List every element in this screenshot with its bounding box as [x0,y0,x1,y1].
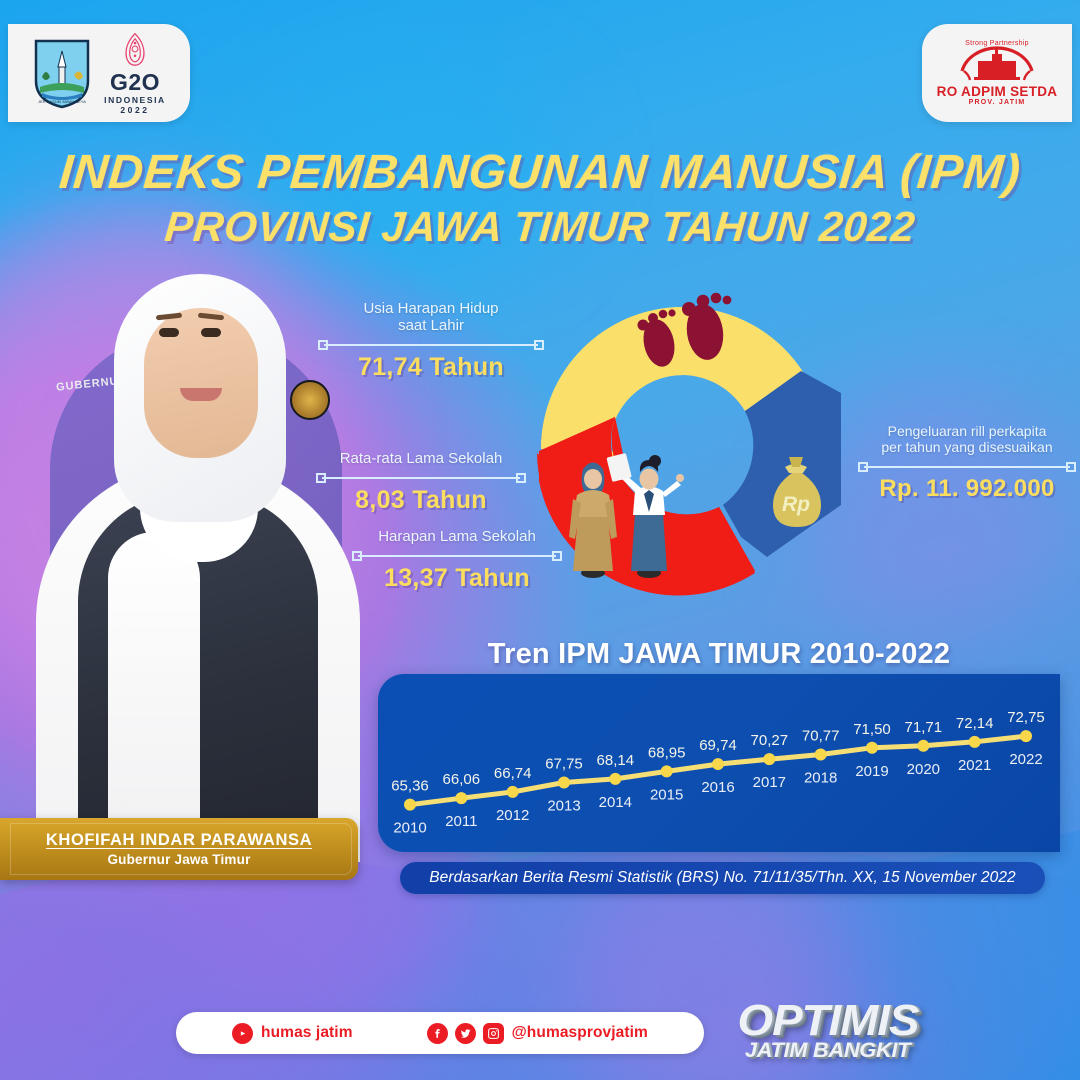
trend-data-point [712,758,724,770]
adpim-logo: Strong Partnership RO ADPIM SETDA PROV. … [937,40,1058,107]
trend-year-label: 2010 [393,820,426,837]
trend-data-point [763,753,775,765]
garuda-emblem-icon [290,380,330,420]
facebook-icon[interactable] [427,1023,448,1044]
trend-data-point [661,765,673,777]
title-line-1: INDEKS PEMBANGUNAN MANUSIA (IPM) [0,148,1080,199]
divider-cap-left [316,473,326,483]
trend-data-point [917,740,929,752]
optimis-main-text: OPTIMIS [738,1001,919,1041]
trend-value-label: 72,75 [1007,709,1045,726]
trend-year-label: 2011 [445,813,477,830]
trend-value-label: 71,71 [905,719,943,736]
batik-motif-icon [118,32,152,70]
trend-value-label: 70,27 [751,732,789,749]
footer-social-bar: humas jatim @humasprovjatim [176,1012,704,1054]
divider-cap-left [352,551,362,561]
trend-data-point [815,749,827,761]
optimis-campaign-logo: OPTIMIS JATIM BANGKIT [718,996,938,1068]
social-handle[interactable]: @humasprovjatim [512,1024,648,1042]
stat-value: Rp. 11. 992.000 [858,475,1076,503]
youtube-handle[interactable]: humas jatim [261,1024,353,1042]
trend-year-label: 2021 [958,757,991,774]
trend-data-point [609,773,621,785]
trend-value-label: 72,14 [956,715,994,732]
svg-text:JER BASUKI MAWA BEYA: JER BASUKI MAWA BEYA [38,99,86,104]
jatim-provincial-seal-icon: JER BASUKI MAWA BEYA [32,37,92,109]
trend-data-point [558,777,570,789]
social-icon-list [427,1023,504,1044]
trend-chart-panel: 65,36201066,06201166,74201267,75201368,1… [378,674,1060,852]
stat-divider [316,472,526,484]
money-symbol: Rp [782,493,810,516]
page-title: INDEKS PEMBANGUNAN MANUSIA (IPM) PROVINS… [0,148,1080,249]
trend-year-label: 2012 [496,807,529,824]
trend-year-label: 2019 [855,763,888,780]
trend-year-label: 2017 [753,774,786,791]
adpim-sub: PROV. JATIM [969,99,1026,106]
divider-line [864,466,1070,468]
trend-data-point [455,792,467,804]
government-building-icon [954,45,1040,83]
trend-year-label: 2018 [804,770,837,787]
stat-label-line1: Pengeluaran rill perkapita [858,424,1076,440]
trend-value-label: 69,74 [699,737,737,754]
trend-source-note: Berdasarkan Berita Resmi Statistik (BRS)… [400,862,1045,894]
governor-mouth [180,388,222,401]
trend-value-label: 66,06 [443,771,481,788]
stat-value: 8,03 Tahun [316,486,526,515]
trend-year-label: 2016 [701,779,734,796]
socials-group[interactable]: @humasprovjatim [427,1023,648,1044]
governor-name: KHOFIFAH INDAR PARAWANSA [46,831,312,850]
trend-data-point [404,799,416,811]
trend-value-label: 67,75 [545,756,583,773]
youtube-icon[interactable] [232,1023,253,1044]
title-line-2: PROVINSI JAWA TIMUR TAHUN 2022 [0,205,1080,250]
ipm-trend-line-chart: 65,36201066,06201166,74201267,75201368,1… [378,674,1060,852]
logo-ro-adpim-setda: Strong Partnership RO ADPIM SETDA PROV. … [922,24,1072,122]
instagram-icon[interactable] [483,1023,504,1044]
trend-value-label: 65,36 [391,778,429,795]
governor-eye [159,328,179,337]
trend-year-label: 2022 [1009,751,1042,768]
trend-data-point [866,742,878,754]
trend-value-label: 68,95 [648,744,686,761]
g20-logo: G2O INDONESIA 2022 [104,32,166,114]
trend-data-point [969,736,981,748]
youtube-group[interactable]: humas jatim [232,1023,353,1044]
adpim-name: RO ADPIM SETDA [937,85,1058,99]
ipm-components-donut-chart: Rp [505,275,865,630]
stat-pengeluaran-riil-perkapita: Pengeluaran rill perkapita per tahun yan… [858,424,1076,503]
trend-value-label: 71,50 [853,721,891,738]
trend-data-point [1020,730,1032,742]
twitter-icon[interactable] [455,1023,476,1044]
trend-year-label: 2013 [547,798,580,815]
trend-year-label: 2014 [599,794,632,811]
stat-label-line1: Rata-rata Lama Sekolah [316,450,526,467]
governor-vest-opening [108,532,200,862]
divider-cap-left [318,340,328,350]
g20-country: INDONESIA [104,96,166,105]
trend-value-label: 70,77 [802,728,840,745]
governor-eye [201,328,221,337]
divider-line [322,477,520,479]
trend-chart-title: Tren IPM JAWA TIMUR 2010-2022 [378,638,1060,671]
optimis-sub-text: JATIM BANGKIT [745,1039,910,1063]
trend-value-label: 68,14 [597,752,635,769]
trend-year-label: 2020 [907,761,940,778]
stat-divider [858,461,1076,473]
governor-role: Gubernur Jawa Timur [107,852,250,867]
divider-cap-right [1066,462,1076,472]
g20-title: G2O [110,71,160,94]
trend-data-point [507,786,519,798]
trend-year-label: 2015 [650,786,683,803]
stat-rata-rata-lama-sekolah: Rata-rata Lama Sekolah 8,03 Tahun [316,450,526,515]
stat-label-line2: per tahun yang disesuaikan [858,440,1076,456]
logo-jatim-g20: JER BASUKI MAWA BEYA G2O INDONESIA 2022 [8,24,190,122]
governor-name-plate: KHOFIFAH INDAR PARAWANSA Gubernur Jawa T… [0,818,358,880]
g20-year: 2022 [120,106,149,115]
trend-value-label: 66,74 [494,765,532,782]
